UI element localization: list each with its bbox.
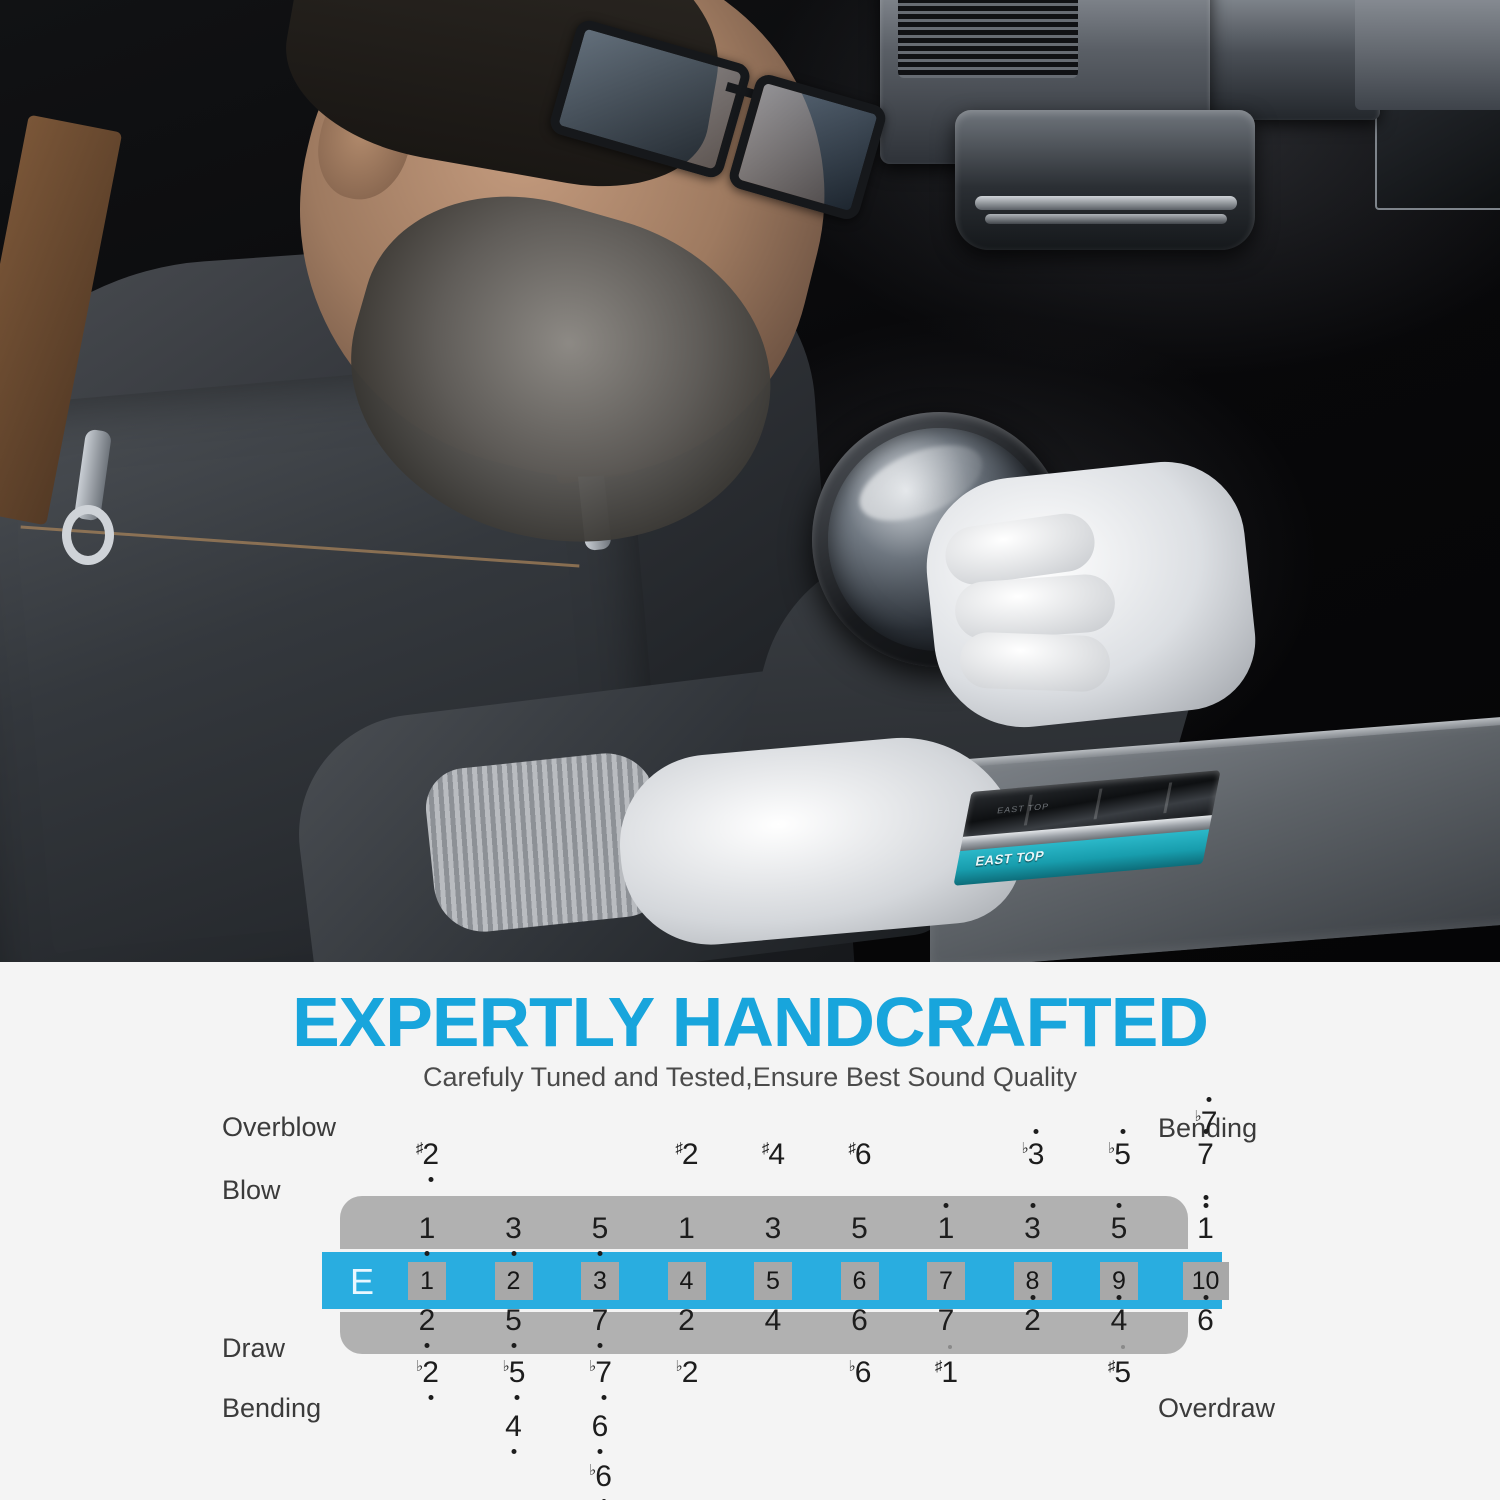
note-number: 1: [941, 1358, 958, 1388]
octave-dot-above: [1121, 1345, 1125, 1349]
row-label-draw: Draw: [222, 1333, 285, 1364]
note-number: 2: [1024, 1306, 1041, 1336]
note-number: 6: [592, 1412, 609, 1442]
headline: EXPERTLY HANDCRAFTED: [0, 982, 1500, 1062]
hole-box-2[interactable]: 2: [495, 1262, 533, 1300]
note-number: 6: [855, 1140, 872, 1170]
note-overblow-hole-9: ♭5: [1089, 1140, 1149, 1170]
note-number: 5: [592, 1214, 609, 1244]
note-number: 4: [768, 1140, 785, 1170]
harmonica-top-logo: EAST TOP: [996, 802, 1050, 816]
note-number: 3: [1024, 1214, 1041, 1244]
note-blow-hole-9: 5: [1089, 1214, 1149, 1244]
octave-dot-above: [1117, 1203, 1122, 1208]
octave-dot-below: [601, 1395, 606, 1400]
note-number: 7: [1197, 1140, 1214, 1170]
note-number: 1: [678, 1214, 695, 1244]
note-blow-hole-6: 5: [830, 1214, 890, 1244]
note-draw-hole-2: 5: [484, 1306, 544, 1336]
octave-dot-above: [1030, 1203, 1035, 1208]
octave-dot-below: [598, 1343, 603, 1348]
note-draw-hole-7: 7: [916, 1306, 976, 1336]
note-draw-hole-10: 6: [1176, 1306, 1236, 1336]
note-bending_3-hole-3: ♭6: [570, 1462, 630, 1492]
note-blow-hole-3: 5: [570, 1214, 630, 1244]
note-bending_1-hole-6: ♭6: [830, 1358, 890, 1388]
note-blow-hole-5: 3: [743, 1214, 803, 1244]
octave-dot-below: [428, 1177, 433, 1182]
row-label-blow: Blow: [222, 1175, 281, 1206]
octave-dot-below: [511, 1343, 516, 1348]
octave-dot-above: [948, 1345, 952, 1349]
note-number: 6: [855, 1358, 872, 1388]
note-bending_2-hole-2: 4: [484, 1412, 544, 1442]
octave-dot-above: [1203, 1129, 1208, 1134]
note-number: 6: [595, 1462, 612, 1492]
harmonica-slot: [1163, 782, 1172, 813]
hole-box-3[interactable]: 3: [581, 1262, 619, 1300]
octave-dot-above: [1207, 1097, 1212, 1102]
glove-finger-2: [953, 572, 1117, 641]
note-number: 2: [682, 1140, 699, 1170]
note-overblow-hole-4: ♯2: [657, 1140, 717, 1170]
note-blow-hole-7: 1: [916, 1214, 976, 1244]
octave-dot-above: [1203, 1203, 1208, 1208]
note-number: 4: [765, 1306, 782, 1336]
note-number: 5: [505, 1306, 522, 1336]
note-number: 3: [765, 1214, 782, 1244]
note-draw-hole-1: 2: [397, 1306, 457, 1336]
note-bending_1-hole-1: ♭2: [397, 1358, 457, 1388]
octave-dot-above: [1117, 1295, 1122, 1300]
key-letter: E: [340, 1261, 384, 1303]
note-number: 1: [1197, 1214, 1214, 1244]
octave-dot-below: [511, 1449, 516, 1454]
note-number: 4: [1111, 1306, 1128, 1336]
row-label-bending: Bending: [222, 1393, 321, 1424]
octave-dot-below: [425, 1343, 430, 1348]
subheadline: Carefuly Tuned and Tested,Ensure Best So…: [0, 1062, 1500, 1093]
note-overblow-hole-5: ♯4: [743, 1140, 803, 1170]
note-number: 7: [938, 1306, 955, 1336]
glove-finger-3: [959, 631, 1111, 692]
note-blow-hole-4: 1: [657, 1214, 717, 1244]
hole-box-4[interactable]: 4: [668, 1262, 706, 1300]
octave-dot-below: [425, 1251, 430, 1256]
row-label-overdraw: Overdraw: [1158, 1393, 1275, 1424]
note-draw-hole-3: 7: [570, 1306, 630, 1336]
note-draw-hole-6: 6: [830, 1306, 890, 1336]
octave-dot-below: [515, 1395, 520, 1400]
hole-box-1[interactable]: 1: [408, 1262, 446, 1300]
octave-dot-above: [1203, 1195, 1208, 1200]
octave-dot-above: [1203, 1295, 1208, 1300]
note-number: 2: [678, 1306, 695, 1336]
note-overblow-hole-6: ♯6: [830, 1140, 890, 1170]
octave-dot-below: [511, 1251, 516, 1256]
note-number: 4: [505, 1412, 522, 1442]
note-blow-hole-2: 3: [484, 1214, 544, 1244]
note-number: 6: [1197, 1306, 1214, 1336]
note-number: 2: [422, 1140, 439, 1170]
octave-dot-above: [1120, 1129, 1125, 1134]
note-number: 5: [1114, 1358, 1131, 1388]
note-blow-hole-1: 1: [397, 1214, 457, 1244]
note-number: 2: [419, 1306, 436, 1336]
note-draw-hole-5: 4: [743, 1306, 803, 1336]
harmonica-note-chart: Overblow Blow Draw Bending Bending Overd…: [0, 0, 1500, 538]
hole-box-5[interactable]: 5: [754, 1262, 792, 1300]
note-number: 3: [1028, 1140, 1045, 1170]
note-number: 2: [682, 1358, 699, 1388]
hole-box-7[interactable]: 7: [927, 1262, 965, 1300]
note-overblow-hole-1: ♯2: [397, 1140, 457, 1170]
octave-dot-below: [598, 1251, 603, 1256]
note-bending_1-hole-7: ♯1: [916, 1358, 976, 1388]
octave-dot-below: [428, 1395, 433, 1400]
octave-dot-above: [1034, 1129, 1039, 1134]
note-number: 5: [1114, 1140, 1131, 1170]
note-draw-hole-9: 4: [1089, 1306, 1149, 1336]
note-number: 5: [1111, 1214, 1128, 1244]
hole-box-6[interactable]: 6: [841, 1262, 879, 1300]
note-bending_2-hole-3: 6: [570, 1412, 630, 1442]
note-blow-hole-8: 3: [1003, 1214, 1063, 1244]
note-draw-hole-4: 2: [657, 1306, 717, 1336]
note-number: 5: [509, 1358, 526, 1388]
note-number: 7: [595, 1358, 612, 1388]
note-bending_1-hole-2: ♭5: [484, 1358, 544, 1388]
note-number: 1: [938, 1214, 955, 1244]
harmonica-slot: [1094, 788, 1103, 819]
note-number: 6: [851, 1306, 868, 1336]
note-number: 1: [419, 1214, 436, 1244]
note-number: 2: [422, 1358, 439, 1388]
octave-dot-above: [1030, 1295, 1035, 1300]
row-label-overblow: Overblow: [222, 1112, 336, 1143]
note-number: 7: [592, 1306, 609, 1336]
octave-dot-below: [598, 1449, 603, 1454]
note-overblow-hole-8: ♭3: [1003, 1140, 1063, 1170]
note-bending_1-hole-9: ♯5: [1089, 1358, 1149, 1388]
note-bending_1-hole-4: ♭2: [657, 1358, 717, 1388]
note-number: 5: [851, 1214, 868, 1244]
page-root: EAST TOP EAST TOP EXPERTLY HANDCRAFTED C…: [0, 0, 1500, 1500]
note-bending_upper_row2-hole-10: 7: [1176, 1140, 1236, 1170]
note-draw-hole-8: 2: [1003, 1306, 1063, 1336]
note-number: 3: [505, 1214, 522, 1244]
octave-dot-above: [944, 1203, 949, 1208]
note-blow-hole-10: 1: [1176, 1214, 1236, 1244]
note-bending_1-hole-3: ♭7: [570, 1358, 630, 1388]
